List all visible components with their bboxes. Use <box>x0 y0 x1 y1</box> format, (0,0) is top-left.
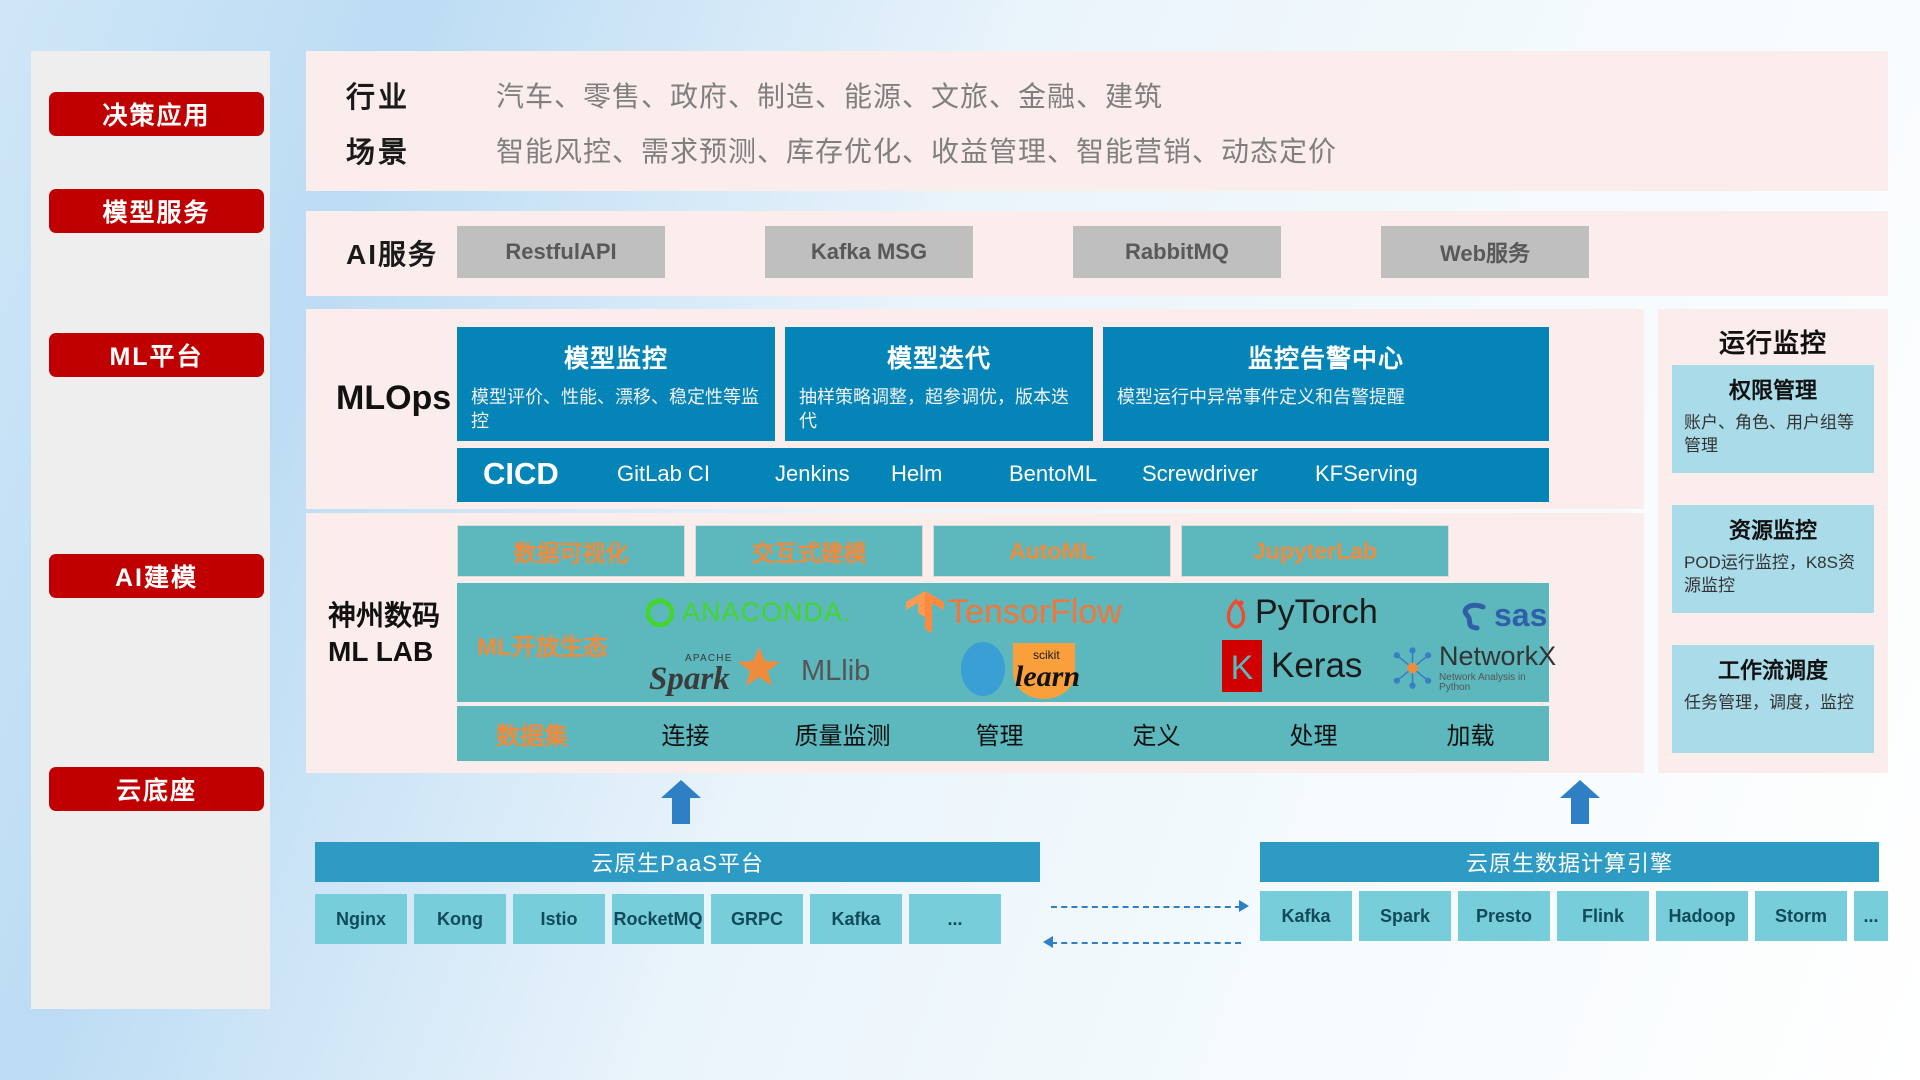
rail-item-ml-platform[interactable]: ML平台 <box>49 333 264 377</box>
cloud-paas-title: 云原生PaaS平台 <box>591 846 764 878</box>
svg-text:K: K <box>1231 649 1254 687</box>
cicd-item-jenkins[interactable]: Jenkins <box>775 460 885 488</box>
cloud-chip-kong[interactable]: Kong <box>414 894 506 944</box>
mlops-card-alert-center[interactable]: 监控告警中心 模型运行中异常事件定义和告警提醒 <box>1103 327 1549 441</box>
dataset-item-load[interactable]: 加载 <box>1392 716 1549 751</box>
sas-icon <box>1457 601 1493 631</box>
cloud-chip-label: ... <box>1863 906 1878 926</box>
ml-lab-band: 神州数码 ML LAB 数据可视化 交互式建模 AutoML JupyterLa… <box>306 513 1644 773</box>
cloud-connector-bottom <box>1051 942 1241 944</box>
cicd-item-gitlab-ci[interactable]: GitLab CI <box>617 460 727 488</box>
cloud-data-engine-header: 云原生数据计算引擎 <box>1260 842 1879 882</box>
cloud-chip-flink[interactable]: Flink <box>1557 891 1649 941</box>
tensorflow-wordmark: TensorFlow <box>948 593 1122 632</box>
anaconda-wordmark: ANACONDA. <box>682 597 852 628</box>
cloud-chip-label: ... <box>947 909 962 929</box>
keras-logo: K Keras <box>1221 639 1362 693</box>
dataset-bar: 数据集 连接 质量监测 管理 定义 处理 加载 <box>457 706 1549 761</box>
tensorflow-icon <box>904 589 946 635</box>
scikit-learn-icon: scikit learn <box>957 641 1105 699</box>
cloud-chip-nginx[interactable]: Nginx <box>315 894 407 944</box>
ml-lab-label-line2: ML LAB <box>328 634 440 670</box>
rail-item-cloud-base[interactable]: 云底座 <box>49 767 264 811</box>
ai-service-band: AI服务 RestfulAPI Kafka MSG RabbitMQ Web服务 <box>306 211 1888 296</box>
cloud-chip-hadoop[interactable]: Hadoop <box>1656 891 1748 941</box>
mlops-label: MLOps <box>336 379 451 418</box>
industry-text: 汽车、零售、政府、制造、能源、文旅、金融、建筑 <box>496 75 1163 115</box>
ml-lab-label-line1: 神州数码 <box>328 598 440 634</box>
dataset-item-connect[interactable]: 连接 <box>607 716 764 751</box>
cloud-chip-label: Istio <box>540 909 577 929</box>
dataset-item-manage[interactable]: 管理 <box>921 716 1078 751</box>
monitor-card-workflow[interactable]: 工作流调度 任务管理，调度，监控 <box>1672 645 1874 753</box>
cloud-chip-more-right[interactable]: ... <box>1854 891 1888 941</box>
svg-text:Spark: Spark <box>649 661 730 697</box>
rail-item-decision-app[interactable]: 决策应用 <box>49 92 264 136</box>
cloud-connector-top <box>1051 906 1241 908</box>
ai-chip-label: Web服务 <box>1440 236 1530 268</box>
arrow-up-left <box>661 780 701 824</box>
cloud-data-engine-title: 云原生数据计算引擎 <box>1466 846 1673 878</box>
cicd-item-kfserving[interactable]: KFServing <box>1315 460 1425 488</box>
svg-text:learn: learn <box>1015 660 1080 693</box>
monitor-card-title: 权限管理 <box>1684 373 1862 405</box>
dataset-label: 数据集 <box>457 716 607 751</box>
monitor-card-desc: POD运行监控，K8S资源监控 <box>1684 552 1862 598</box>
anaconda-logo: ANACONDA. <box>643 595 852 629</box>
industry-scenario-band: 行业 汽车、零售、政府、制造、能源、文旅、金融、建筑 场景 智能风控、需求预测、… <box>306 51 1888 191</box>
cloud-paas-header: 云原生PaaS平台 <box>315 842 1040 882</box>
mllib-wordmark: MLlib <box>801 655 870 688</box>
mlops-card-model-monitoring[interactable]: 模型监控 模型评价、性能、漂移、稳定性等监控 <box>457 327 775 441</box>
monitor-card-resource[interactable]: 资源监控 POD运行监控，K8S资源监控 <box>1672 505 1874 613</box>
lab-tab-label: 数据可视化 <box>514 534 629 568</box>
cloud-chip-kafka-right[interactable]: Kafka <box>1260 891 1352 941</box>
ml-ecosystem-box: ML开放生态 ANACONDA. TensorFlow <box>457 583 1549 702</box>
cloud-chip-spark[interactable]: Spark <box>1359 891 1451 941</box>
spark-icon: APACHE Spark <box>647 645 797 697</box>
lab-tab-jupyterlab[interactable]: JupyterLab <box>1181 525 1449 577</box>
monitor-card-title: 工作流调度 <box>1684 653 1862 685</box>
ai-chip-rabbitmq[interactable]: RabbitMQ <box>1073 226 1281 278</box>
rail-label: 决策应用 <box>102 96 210 132</box>
anaconda-icon <box>643 595 677 629</box>
tensorflow-logo: TensorFlow <box>904 589 1122 635</box>
cloud-chip-label: Nginx <box>336 909 386 929</box>
monitor-card-desc: 账户、角色、用户组等管理 <box>1684 412 1862 458</box>
cloud-chip-istio[interactable]: Istio <box>513 894 605 944</box>
mlops-band: MLOps 模型监控 模型评价、性能、漂移、稳定性等监控 模型迭代 抽样策略调整… <box>306 309 1644 509</box>
rail-label: ML平台 <box>109 337 203 373</box>
lab-tab-label: JupyterLab <box>1253 538 1377 565</box>
rail-label: 云底座 <box>116 771 197 807</box>
runtime-monitor-title: 运行监控 <box>1658 323 1888 360</box>
monitor-card-desc: 任务管理，调度，监控 <box>1684 692 1862 715</box>
cicd-item-helm[interactable]: Helm <box>891 460 1001 488</box>
dataset-item-process[interactable]: 处理 <box>1235 716 1392 751</box>
cloud-chip-label: Kafka <box>1281 906 1330 926</box>
industry-label: 行业 <box>346 74 496 116</box>
cloud-chip-label: Hadoop <box>1669 906 1736 926</box>
cloud-chip-label: Flink <box>1582 906 1624 926</box>
scenario-text: 智能风控、需求预测、库存优化、收益管理、智能营销、动态定价 <box>496 130 1337 170</box>
pytorch-icon <box>1220 595 1252 631</box>
dataset-item-quality[interactable]: 质量监测 <box>764 716 921 751</box>
cloud-chip-label: Spark <box>1380 906 1430 926</box>
networkx-subtitle: Network Analysis in Python <box>1439 673 1557 693</box>
cloud-connector-top-arrow <box>1239 900 1249 912</box>
keras-icon: K <box>1221 639 1263 693</box>
cloud-chip-rocketmq[interactable]: RocketMQ <box>612 894 704 944</box>
cloud-chip-label: Kong <box>437 909 483 929</box>
cicd-item-bentoml[interactable]: BentoML <box>1009 460 1119 488</box>
sas-logo: sas <box>1457 597 1547 634</box>
networkx-wordmark: NetworkX <box>1439 643 1557 670</box>
cloud-chip-more-left[interactable]: ... <box>909 894 1001 944</box>
mlops-card-title: 模型迭代 <box>785 339 1093 375</box>
mlops-card-desc: 模型评价、性能、漂移、稳定性等监控 <box>471 386 761 434</box>
cloud-chip-label: Storm <box>1775 906 1827 926</box>
mlops-card-title: 监控告警中心 <box>1103 339 1549 375</box>
ai-chip-restfulapi[interactable]: RestfulAPI <box>457 226 665 278</box>
rail-label: AI建模 <box>115 558 198 594</box>
mlops-card-model-iteration[interactable]: 模型迭代 抽样策略调整，超参调优，版本迭代 <box>785 327 1093 441</box>
keras-wordmark: Keras <box>1271 646 1362 686</box>
mlops-card-title: 模型监控 <box>457 339 775 375</box>
mlops-card-desc: 模型运行中异常事件定义和告警提醒 <box>1117 386 1535 410</box>
dataset-item-define[interactable]: 定义 <box>1078 716 1235 751</box>
rail-item-ai-modeling[interactable]: AI建模 <box>49 554 264 598</box>
ml-lab-label: 神州数码 ML LAB <box>328 598 440 671</box>
cicd-bar: CICD GitLab CI Jenkins Helm BentoML Scre… <box>457 448 1549 502</box>
ml-ecosystem-label: ML开放生态 <box>477 627 608 662</box>
pytorch-wordmark: PyTorch <box>1255 593 1378 632</box>
scikit-learn-logo: scikit learn <box>957 641 1105 699</box>
spark-mllib-logo: APACHE Spark MLlib <box>647 645 870 697</box>
ai-chip-label: RestfulAPI <box>505 239 616 265</box>
cicd-item-screwdriver[interactable]: Screwdriver <box>1142 460 1252 488</box>
lab-tab-interactive-modeling[interactable]: 交互式建模 <box>695 525 923 577</box>
lab-tab-data-visualization[interactable]: 数据可视化 <box>457 525 685 577</box>
cloud-chip-label: Kafka <box>831 909 880 929</box>
scenario-label: 场景 <box>346 129 496 171</box>
networkx-icon <box>1391 646 1434 690</box>
cloud-chip-label: RocketMQ <box>613 909 702 929</box>
cloud-chip-presto[interactable]: Presto <box>1458 891 1550 941</box>
monitor-card-title: 资源监控 <box>1684 513 1862 545</box>
rail-label: 模型服务 <box>102 193 210 229</box>
rail-item-model-service[interactable]: 模型服务 <box>49 189 264 233</box>
lab-tab-label: 交互式建模 <box>752 534 867 568</box>
networkx-logo: NetworkX Network Analysis in Python <box>1391 643 1557 693</box>
ai-chip-label: RabbitMQ <box>1125 239 1229 265</box>
cloud-chip-label: GRPC <box>731 909 783 929</box>
cloud-chip-storm[interactable]: Storm <box>1755 891 1847 941</box>
ai-chip-label: Kafka MSG <box>811 239 927 265</box>
pytorch-logo: PyTorch <box>1220 593 1378 632</box>
mlops-card-desc: 抽样策略调整，超参调优，版本迭代 <box>799 386 1079 434</box>
monitor-card-permission[interactable]: 权限管理 账户、角色、用户组等管理 <box>1672 365 1874 473</box>
ai-chip-web-service[interactable]: Web服务 <box>1381 226 1589 278</box>
sas-wordmark: sas <box>1494 597 1547 634</box>
ai-service-label: AI服务 <box>346 233 438 273</box>
lab-tab-automl[interactable]: AutoML <box>933 525 1171 577</box>
cloud-chip-label: Presto <box>1476 906 1532 926</box>
ai-chip-kafka-msg[interactable]: Kafka MSG <box>765 226 973 278</box>
arrow-up-right <box>1560 780 1600 824</box>
runtime-monitor-band: 运行监控 权限管理 账户、角色、用户组等管理 资源监控 POD运行监控，K8S资… <box>1658 309 1888 773</box>
cicd-title: CICD <box>483 456 559 492</box>
lab-tab-label: AutoML <box>1009 538 1095 565</box>
cloud-chip-grpc[interactable]: GRPC <box>711 894 803 944</box>
cloud-chip-kafka[interactable]: Kafka <box>810 894 902 944</box>
cloud-connector-bottom-arrow <box>1043 936 1053 948</box>
